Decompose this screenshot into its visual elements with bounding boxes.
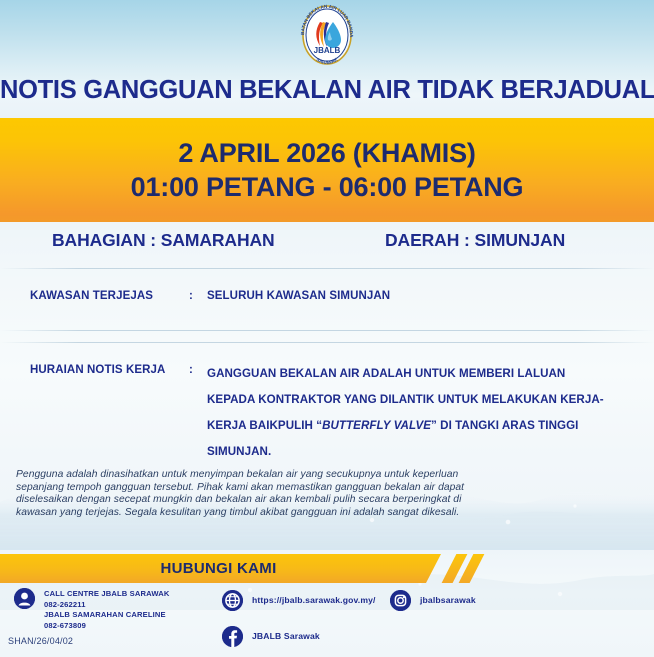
work-notice-label: HURAIAN NOTIS KERJA xyxy=(30,364,165,376)
date-time-band: 2 APRIL 2026 (KHAMIS) 01:00 PETANG - 06:… xyxy=(0,118,654,222)
affected-area-value: SELURUH KAWASAN SIMUNJAN xyxy=(207,290,390,302)
work-notice-line-4: SIMUNJAN. xyxy=(207,439,627,465)
divider-3 xyxy=(0,342,654,343)
work-notice-line-3-pre: KERJA BAIKPULIH “ xyxy=(207,419,322,432)
contact-call-centre[interactable]: CALL CENTRE JBALB SARAWAK 082-262211 JBA… xyxy=(14,588,170,631)
call-centre-phone-2: 082-673809 xyxy=(44,621,86,630)
contact-banner-title: HUBUNGI KAMI xyxy=(160,560,276,577)
division-label: BAHAGIAN : SAMARAHAN xyxy=(52,230,275,251)
work-notice-emphasis: BUTTERFLY VALVE xyxy=(322,419,431,432)
notice-body: BAHAGIAN : SAMARAHAN DAERAH : SIMUNJAN K… xyxy=(0,222,654,550)
logo-wordmark: JBALB xyxy=(314,46,341,55)
work-notice-description: GANGGUAN BEKALAN AIR ADALAH UNTUK MEMBER… xyxy=(207,361,627,465)
call-centre-phone-1: 082-262211 xyxy=(44,600,86,609)
notice-poster: JABATAN BEKALAN AIR LUAR BANDAR SARAWAK … xyxy=(0,0,654,657)
work-notice-line-3-post: ” DI TANGKI ARAS TINGGI xyxy=(431,419,578,432)
affected-area-colon: : xyxy=(189,290,193,302)
globe-icon xyxy=(222,590,243,611)
contact-website[interactable]: https://jbalb.sarawak.gov.my/ xyxy=(222,590,376,611)
contact-instagram[interactable]: jbalbsarawak xyxy=(390,590,476,611)
divider-1 xyxy=(0,268,654,269)
contact-list: CALL CENTRE JBALB SARAWAK 082-262211 JBA… xyxy=(0,586,654,657)
reference-code: SHAN/26/04/02 xyxy=(8,636,73,646)
contact-section: HUBUNGI KAMI CALL CENTRE JBALB SARAWAK 0… xyxy=(0,550,654,657)
work-notice-colon: : xyxy=(189,364,193,376)
instagram-handle: jbalbsarawak xyxy=(420,590,476,606)
divider-2 xyxy=(0,330,654,331)
website-url: https://jbalb.sarawak.gov.my/ xyxy=(252,590,376,606)
call-centre-text: CALL CENTRE JBALB SARAWAK 082-262211 JBA… xyxy=(44,588,170,631)
contact-facebook[interactable]: JBALB Sarawak xyxy=(222,626,320,647)
facebook-handle: JBALB Sarawak xyxy=(252,626,320,642)
advisory-text: Pengguna adalah dinasihatkan untuk menyi… xyxy=(16,469,468,519)
instagram-icon xyxy=(390,590,411,611)
page-title: NOTIS GANGGUAN BEKALAN AIR TIDAK BERJADU… xyxy=(0,76,654,105)
work-notice-line-1: GANGGUAN BEKALAN AIR ADALAH UNTUK MEMBER… xyxy=(207,361,627,387)
district-label: DAERAH : SIMUNJAN xyxy=(385,230,565,251)
poster-header: JABATAN BEKALAN AIR LUAR BANDAR SARAWAK … xyxy=(0,0,654,118)
affected-area-label: KAWASAN TERJEJAS xyxy=(30,290,153,302)
contact-banner: HUBUNGI KAMI xyxy=(0,554,455,583)
call-centre-line-3: JBALB SAMARAHAN CARELINE xyxy=(44,610,166,619)
notice-date: 2 APRIL 2026 (KHAMIS) xyxy=(178,139,475,167)
jbalb-sarawak-logo: JABATAN BEKALAN AIR LUAR BANDAR SARAWAK … xyxy=(296,4,358,66)
work-notice-line-2: KEPADA KONTRAKTOR YANG DILANTIK UNTUK ME… xyxy=(207,387,627,413)
facebook-icon xyxy=(222,626,243,647)
call-centre-line-1: CALL CENTRE JBALB SARAWAK xyxy=(44,589,170,598)
work-notice-line-3: KERJA BAIKPULIH “BUTTERFLY VALVE” DI TAN… xyxy=(207,413,627,439)
notice-time: 01:00 PETANG - 06:00 PETANG xyxy=(131,173,524,201)
person-icon xyxy=(14,588,35,609)
